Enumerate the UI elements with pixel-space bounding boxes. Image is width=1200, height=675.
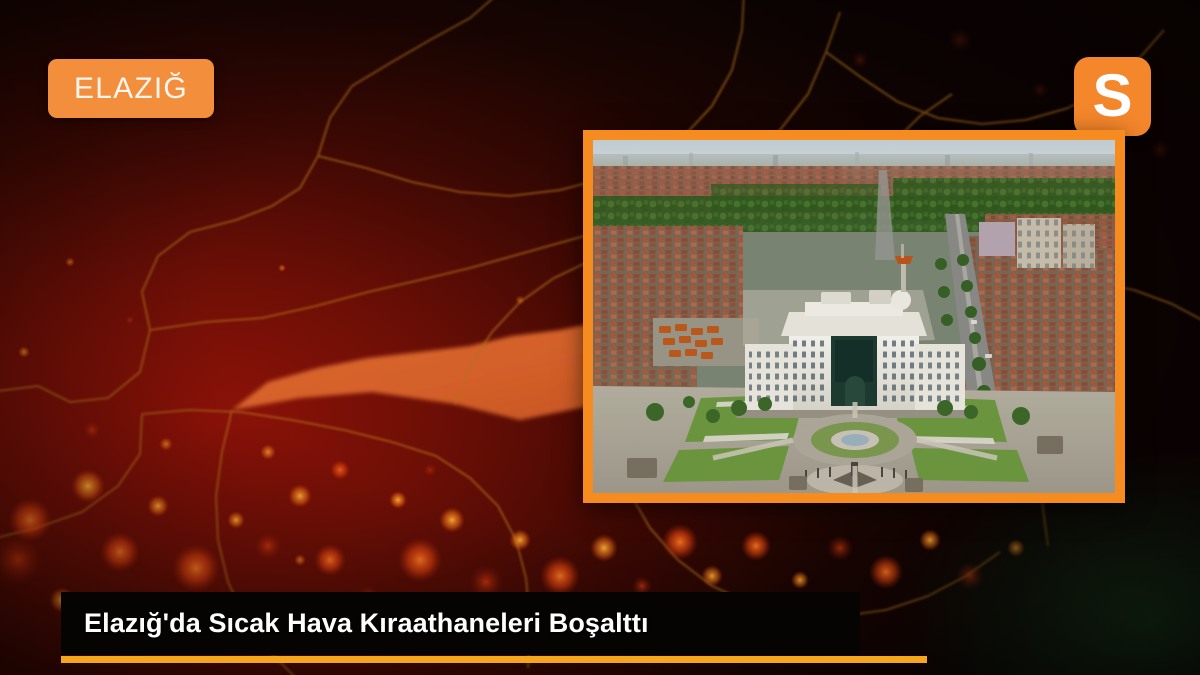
city-badge-label: ELAZIĞ (74, 74, 188, 104)
headline-text: Elazığ'da Sıcak Hava Kıraathaneleri Boşa… (61, 608, 649, 639)
photo-frame (583, 130, 1125, 503)
aerial-city-photo (593, 140, 1115, 493)
brand-logo-letter: S (1092, 66, 1132, 126)
brand-s-logo[interactable]: S (1074, 57, 1151, 136)
photo-inner (593, 140, 1115, 493)
headline-bar: Elazığ'da Sıcak Hava Kıraathaneleri Boşa… (61, 592, 860, 655)
city-badge: ELAZIĞ (48, 59, 214, 118)
news-card: ELAZIĞ S (0, 0, 1200, 675)
headline-underline (61, 656, 927, 663)
